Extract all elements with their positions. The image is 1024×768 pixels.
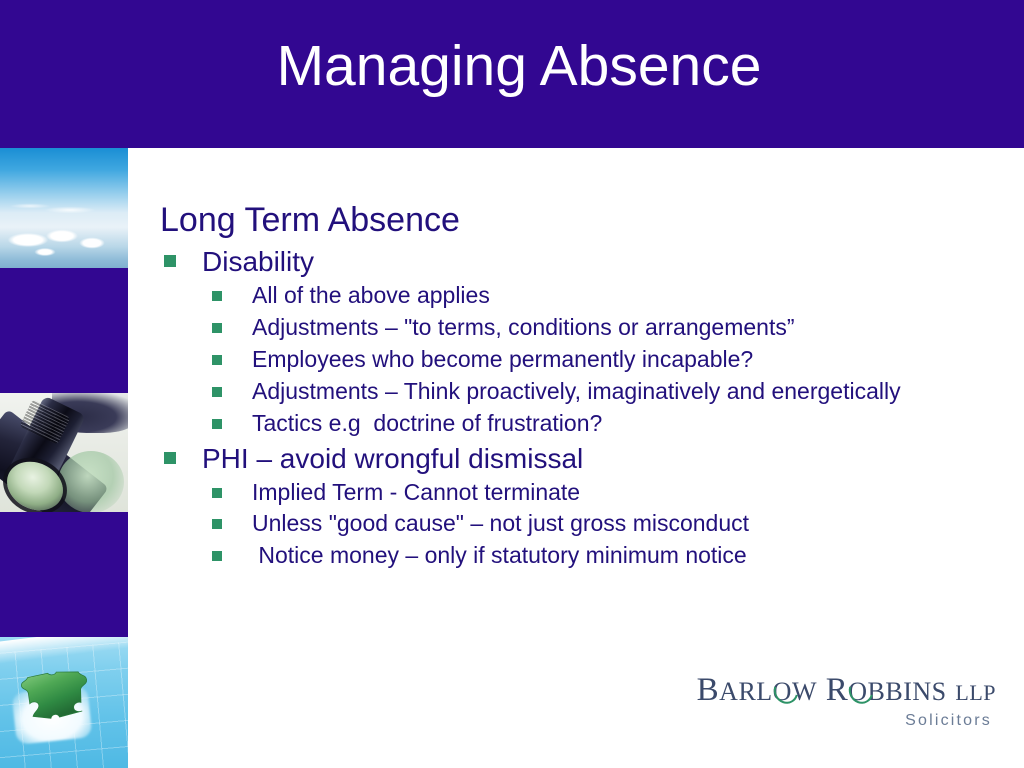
bullet-text: PHI – avoid wrongful dismissal bbox=[202, 441, 1010, 476]
puzzle-piece-photo bbox=[0, 637, 128, 768]
square-bullet-icon bbox=[212, 519, 222, 529]
square-bullet-icon bbox=[212, 355, 222, 365]
bullet-item-phi: PHI – avoid wrongful dismissal bbox=[160, 441, 1010, 476]
square-bullet-icon bbox=[212, 291, 222, 301]
square-bullet-icon bbox=[212, 551, 222, 561]
bullet-item-disability: Disability bbox=[160, 244, 1010, 279]
bullet-text: All of the above applies bbox=[252, 281, 1010, 311]
logo-llp: LLP bbox=[955, 680, 996, 705]
logo-w: W bbox=[792, 677, 817, 706]
bullet-text: Adjustments – Think proactively, imagina… bbox=[252, 377, 1010, 407]
square-bullet-icon bbox=[212, 419, 222, 429]
bullet-text: Employees who become permanently incapab… bbox=[252, 345, 1010, 375]
bullet-text: Notice money – only if statutory minimum… bbox=[252, 541, 1010, 571]
bullet-item-notice-money: Notice money – only if statutory minimum… bbox=[206, 541, 1010, 571]
logo-o-letter: O bbox=[848, 677, 867, 706]
sky-clouds-photo bbox=[0, 148, 128, 268]
square-bullet-icon bbox=[164, 255, 176, 267]
lens-green-reflection bbox=[58, 451, 124, 512]
purple-block-upper bbox=[0, 268, 128, 393]
bullet-item-adjustments-think: Adjustments – Think proactively, imagina… bbox=[206, 377, 1010, 407]
bullet-list-level2-disability: All of the above applies Adjustments – "… bbox=[206, 281, 1010, 438]
slide-body: Long Term Absence Disability All of the … bbox=[160, 200, 1010, 573]
logo-o-robbins: O bbox=[848, 674, 867, 707]
bullet-text: Unless "good cause" – not just gross mis… bbox=[252, 509, 1010, 539]
logo-wordmark: BARLOW ROBBINS LLP bbox=[666, 674, 996, 707]
logo-b: B bbox=[697, 672, 720, 708]
bullet-text: Implied Term - Cannot terminate bbox=[252, 478, 1010, 508]
microscope-lens-photo bbox=[0, 393, 128, 512]
page-title: Managing Absence bbox=[0, 34, 1024, 100]
logo-subtitle: Solicitors bbox=[666, 712, 996, 730]
puzzle-piece-icon bbox=[15, 666, 95, 724]
decorative-side-strip bbox=[0, 148, 128, 768]
bullet-list-level1: Disability All of the above applies Adju… bbox=[160, 244, 1010, 571]
purple-block-lower bbox=[0, 512, 128, 637]
presentation-slide: Managing Absence bbox=[0, 0, 1024, 768]
logo-bbins: BBINS bbox=[868, 677, 947, 706]
logo-r: R bbox=[826, 672, 849, 708]
square-bullet-icon bbox=[212, 387, 222, 397]
bullet-text: Disability bbox=[202, 244, 1010, 279]
bullet-list-level2-phi: Implied Term - Cannot terminate Unless "… bbox=[206, 478, 1010, 572]
bullet-item-good-cause: Unless "good cause" – not just gross mis… bbox=[206, 509, 1010, 539]
logo-arl: ARL bbox=[719, 677, 773, 706]
square-bullet-icon bbox=[212, 488, 222, 498]
bullet-item-tactics-frustration: Tactics e.g doctrine of frustration? bbox=[206, 409, 1010, 439]
square-bullet-icon bbox=[212, 323, 222, 333]
bullet-item-implied-term: Implied Term - Cannot terminate bbox=[206, 478, 1010, 508]
bullet-text: Adjustments – "to terms, conditions or a… bbox=[252, 313, 1010, 343]
body-heading: Long Term Absence bbox=[160, 200, 1010, 240]
bullet-item-all-of-the-above: All of the above applies bbox=[206, 281, 1010, 311]
bullet-text: Tactics e.g doctrine of frustration? bbox=[252, 409, 1010, 439]
slide-title-bar: Managing Absence bbox=[0, 0, 1024, 148]
square-bullet-icon bbox=[164, 452, 176, 464]
bullet-item-adjustments-terms: Adjustments – "to terms, conditions or a… bbox=[206, 313, 1010, 343]
bullet-item-permanently-incapable: Employees who become permanently incapab… bbox=[206, 345, 1010, 375]
company-logo: BARLOW ROBBINS LLP Solicitors bbox=[666, 674, 996, 730]
logo-o-barlow: O bbox=[773, 674, 792, 707]
logo-o-letter: O bbox=[773, 677, 792, 706]
